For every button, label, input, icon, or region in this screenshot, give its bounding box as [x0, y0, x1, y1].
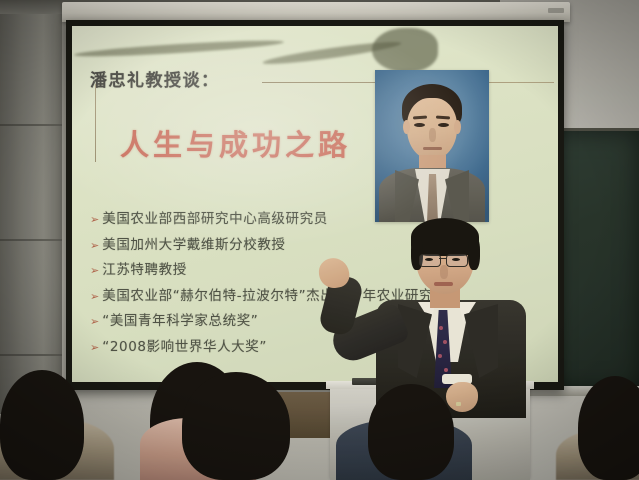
- presenter-nose: [440, 265, 448, 279]
- bullet-arrow-icon: ➢: [90, 211, 99, 228]
- portrait-mouth: [423, 147, 442, 150]
- title-vertical-rule: [95, 84, 96, 162]
- portrait-eye-right: [438, 123, 449, 127]
- projector-screen-roller: [62, 2, 570, 22]
- audience-head-4: [368, 384, 454, 480]
- audience-head-5: [578, 376, 639, 480]
- bullet-arrow-icon: ➢: [90, 313, 99, 330]
- portrait-ear-right: [454, 120, 461, 134]
- presenter-mouth: [434, 282, 453, 286]
- bullet-text: 美国加州大学戴维斯分校教授: [102, 237, 285, 254]
- bullet-arrow-icon: ➢: [90, 288, 99, 305]
- presenter-eye-right: [452, 258, 460, 261]
- portrait-eye-left: [414, 123, 425, 127]
- presenter-glasses-bridge: [439, 258, 447, 259]
- presenter-eye-left: [425, 258, 433, 261]
- bullet-text: 美国农业部西部研究中心高级研究员: [102, 211, 328, 228]
- audience-row: [0, 340, 639, 480]
- audience-head-1: [0, 370, 84, 480]
- bullet-arrow-icon: ➢: [90, 237, 99, 254]
- lecture-hall-photo: 潘忠礼教授谈： 人生与成功之路: [0, 0, 639, 480]
- presenter-hair-side-right: [468, 236, 480, 270]
- portrait-photo: [375, 70, 489, 222]
- portrait-ear-left: [403, 120, 410, 134]
- roller-endcap: [548, 8, 564, 13]
- portrait-nose: [429, 128, 436, 142]
- slide-heading: 人生与成功之路: [120, 122, 351, 164]
- bullet-text: 江苏特聘教授: [102, 262, 187, 279]
- bullet-arrow-icon: ➢: [90, 262, 99, 279]
- bullet-text: “美国青年科学家总统奖”: [102, 313, 258, 330]
- audience-head-3: [182, 372, 290, 480]
- slide-title: 潘忠礼教授谈：: [90, 66, 220, 91]
